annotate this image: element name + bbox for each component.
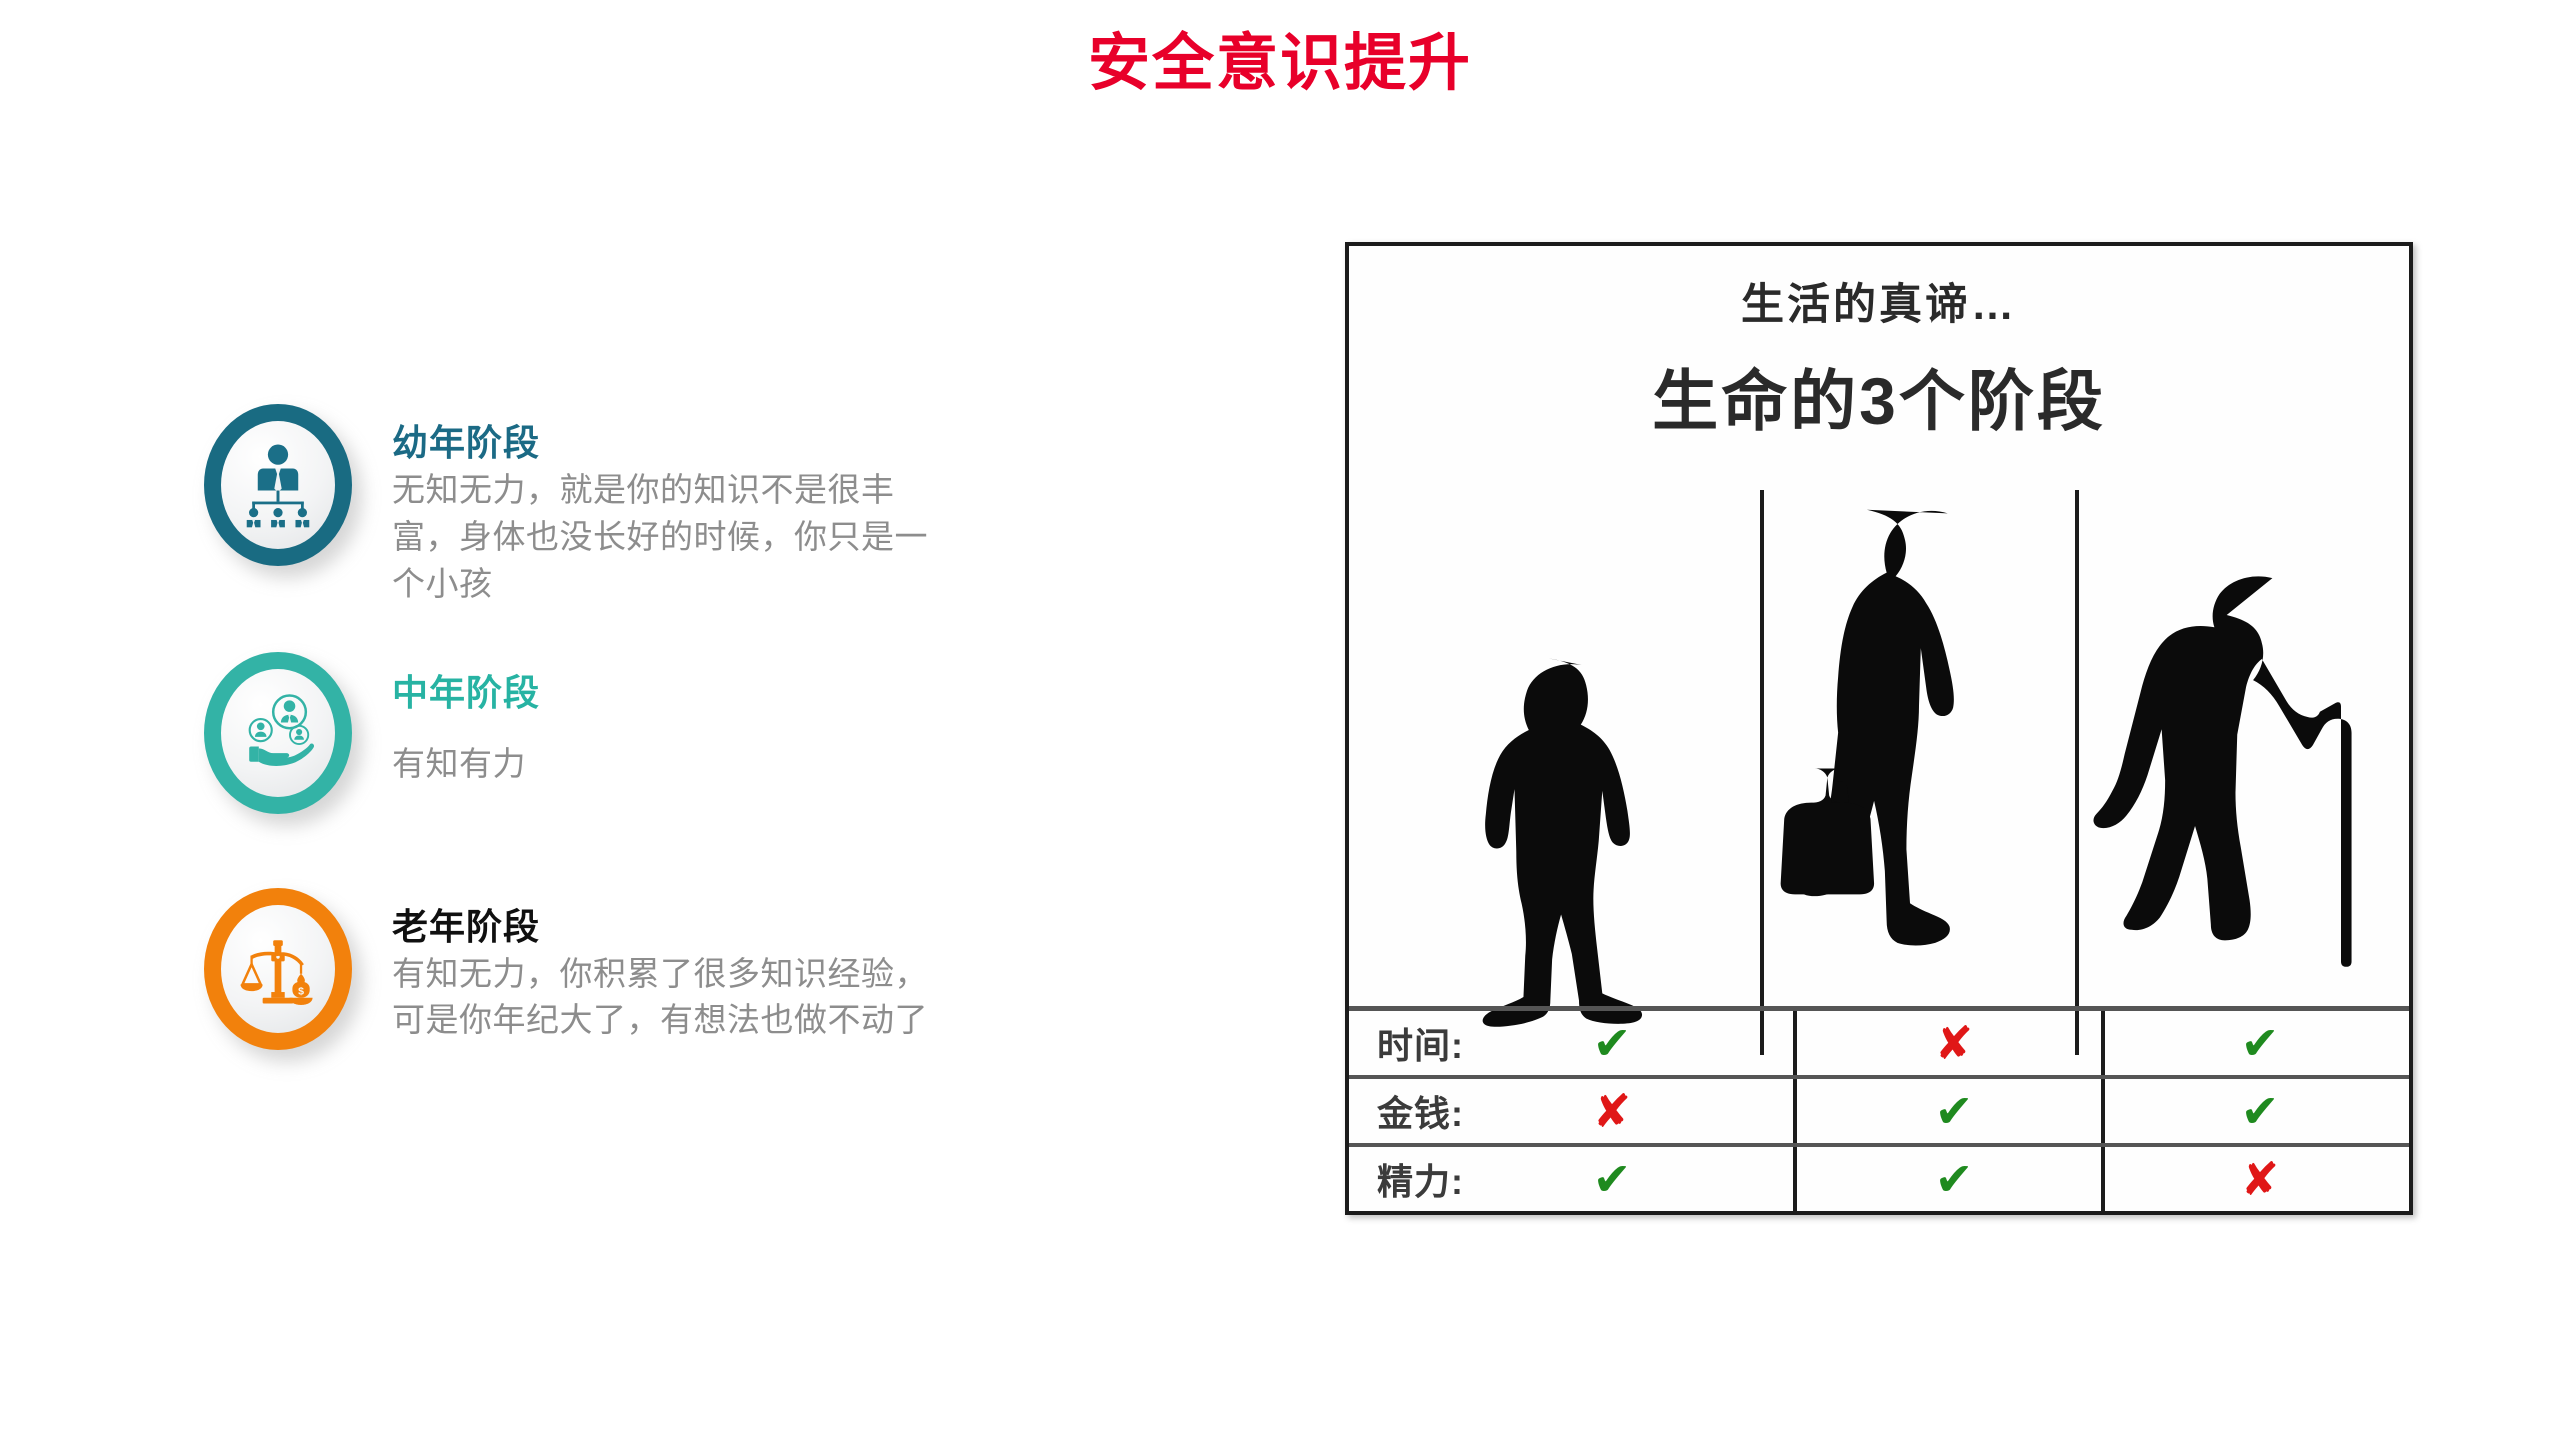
cross-icon: ✘ bbox=[1935, 1020, 1974, 1066]
table-row: 精力: ✔ ✔ ✘ bbox=[1349, 1147, 2409, 1211]
cross-icon: ✘ bbox=[2241, 1156, 2280, 1202]
stage-item-youth[interactable]: 幼年阶段 无知无力，就是你的知识不是很丰富，身体也没长好的时候，你只是一个小孩 bbox=[190, 392, 1070, 608]
stage-heading: 幼年阶段 bbox=[392, 420, 1032, 465]
stage-item-midlife[interactable]: 中年阶段 有知有力 bbox=[190, 640, 1070, 840]
table-row: 金钱: ✘ ✔ ✔ bbox=[1349, 1079, 2409, 1147]
row-label-energy: 精力: bbox=[1349, 1153, 1489, 1205]
hand-holding-people-icon bbox=[204, 652, 352, 814]
check-icon: ✔ bbox=[2241, 1020, 2280, 1066]
row-label-time: 时间: bbox=[1349, 1017, 1489, 1069]
stage-badge-old-age[interactable]: $ bbox=[190, 876, 380, 1076]
table-cell: ✔ bbox=[1793, 1147, 2101, 1211]
page-title: 安全意识提升 bbox=[0, 28, 2560, 99]
stage-badge-midlife[interactable] bbox=[190, 640, 380, 840]
table-row: 时间: ✔ ✘ ✔ bbox=[1349, 1011, 2409, 1079]
column-divider-2 bbox=[2075, 490, 2079, 1055]
stage-body: 有知有力 bbox=[392, 741, 952, 788]
check-icon: ✔ bbox=[1593, 1020, 1632, 1066]
stage-list: 幼年阶段 无知无力，就是你的知识不是很丰富，身体也没长好的时候，你只是一个小孩 bbox=[190, 392, 1070, 1076]
life-stages-image-panel: 生活的真谛… 生命的3个阶段 bbox=[1345, 242, 2413, 1215]
stage-body: 有知无力，你积累了很多知识经验，可是你年纪大了，有想法也做不动了 bbox=[392, 951, 952, 1045]
check-icon: ✔ bbox=[1935, 1156, 1974, 1202]
row-label-money: 金钱: bbox=[1349, 1085, 1489, 1137]
stage-heading: 中年阶段 bbox=[392, 670, 1032, 715]
table-cell: ✘ bbox=[1793, 1011, 2101, 1075]
panel-subtitle: 生活的真谛… bbox=[1349, 270, 2409, 332]
check-icon: ✔ bbox=[1935, 1088, 1974, 1134]
businessman-silhouette-icon bbox=[1774, 499, 2064, 1074]
figures-area bbox=[1349, 464, 2409, 1074]
stage-heading: 老年阶段 bbox=[392, 904, 1032, 949]
row-cells: ✔ ✔ ✘ bbox=[1489, 1147, 2409, 1211]
table-cell: ✔ bbox=[1793, 1079, 2101, 1143]
stage-text-block: 老年阶段 有知无力，你积累了很多知识经验，可是你年纪大了，有想法也做不动了 bbox=[380, 876, 1032, 1045]
table-cell: ✔ bbox=[2101, 1011, 2409, 1075]
stage-badge-youth[interactable] bbox=[190, 392, 380, 592]
row-cells: ✘ ✔ ✔ bbox=[1489, 1079, 2409, 1143]
stage-text-block: 幼年阶段 无知无力，就是你的知识不是很丰富，身体也没长好的时候，你只是一个小孩 bbox=[380, 392, 1032, 608]
cross-icon: ✘ bbox=[1593, 1088, 1632, 1134]
stage-body: 无知无力，就是你的知识不是很丰富，身体也没长好的时候，你只是一个小孩 bbox=[392, 467, 952, 608]
check-icon: ✔ bbox=[1593, 1156, 1632, 1202]
column-divider-1 bbox=[1760, 490, 1764, 1055]
table-cell: ✔ bbox=[1489, 1011, 1793, 1075]
org-chart-people-icon bbox=[204, 404, 352, 566]
attribute-table: 时间: ✔ ✘ ✔ 金钱: ✘ ✔ ✔ 精力: ✔ ✔ ✘ bbox=[1349, 1006, 2409, 1211]
scales-money-balance-icon: $ bbox=[204, 888, 352, 1050]
elderly-man-with-cane-silhouette-icon bbox=[2089, 564, 2389, 1074]
table-cell: ✔ bbox=[2101, 1079, 2409, 1143]
row-cells: ✔ ✘ ✔ bbox=[1489, 1011, 2409, 1075]
table-cell: ✘ bbox=[1489, 1079, 1793, 1143]
svg-text:$: $ bbox=[298, 985, 304, 997]
stage-item-old-age[interactable]: $ 老年阶段 有知无力，你积累了很多知识经验，可是你年纪大了，有想法也做不动了 bbox=[190, 876, 1070, 1076]
table-cell: ✘ bbox=[2101, 1147, 2409, 1211]
check-icon: ✔ bbox=[2241, 1088, 2280, 1134]
panel-heading: 生命的3个阶段 bbox=[1349, 348, 2409, 444]
stage-text-block: 中年阶段 有知有力 bbox=[380, 640, 1032, 788]
table-cell: ✔ bbox=[1489, 1147, 1793, 1211]
